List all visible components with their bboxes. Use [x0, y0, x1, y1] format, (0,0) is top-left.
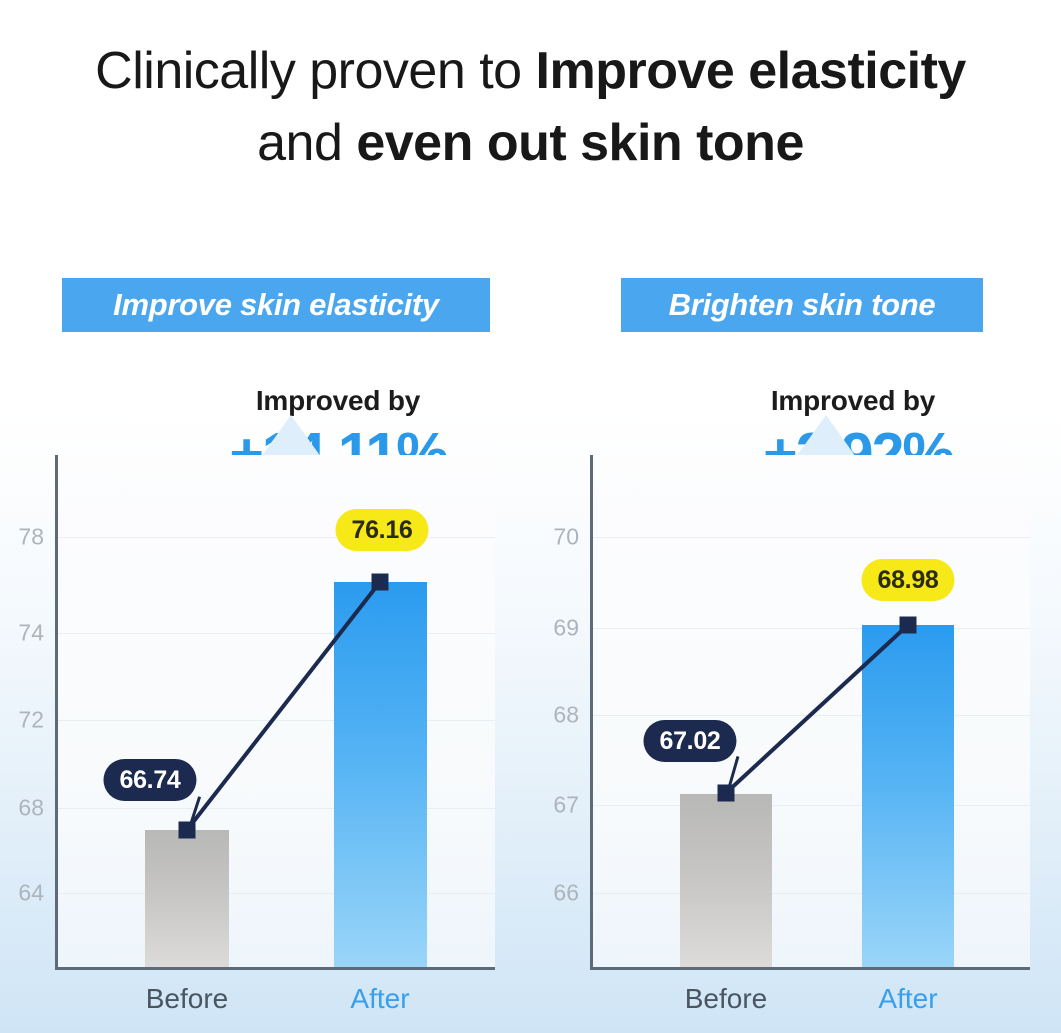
data-point-marker-before	[718, 785, 735, 802]
y-tick-label: 64	[18, 880, 44, 907]
headline-line-1-bold: Improve elasticity	[536, 42, 966, 100]
y-tick-label: 69	[553, 615, 579, 642]
panel-elasticity: Improve skin elasticity Improved by +14.…	[8, 270, 506, 1033]
y-tick-label: 72	[18, 707, 44, 734]
value-pill-before: 67.02	[643, 720, 736, 762]
y-tick-label: 68	[553, 702, 579, 729]
headline-line-2-normal: and	[257, 114, 356, 172]
x-label-after: After	[878, 983, 937, 1015]
headline-line-1-normal: Clinically proven to	[95, 42, 535, 100]
x-label-before: Before	[685, 983, 768, 1015]
improved-label-elasticity: Improved by	[188, 385, 488, 417]
value-pill-after: 76.16	[335, 509, 428, 551]
page-title: Clinically proven to Improve elasticity …	[0, 36, 1061, 180]
panel-skin-tone: Brighten skin tone Improved by +2.92% 70…	[543, 270, 1041, 1033]
headline-line-1: Clinically proven to Improve elasticity	[0, 36, 1061, 108]
plot-area-elasticity: 78 74 72 68 64	[55, 455, 495, 970]
chart-elasticity: 78 74 72 68 64	[8, 450, 506, 1033]
x-label-before: Before	[146, 983, 229, 1015]
improved-label-skin-tone: Improved by	[703, 385, 1003, 417]
chart-skin-tone: 70 69 68 67 66 67.02 68.98	[543, 450, 1041, 1033]
headline-line-2-bold: even out skin tone	[356, 114, 804, 172]
plot-area-skin-tone: 70 69 68 67 66 67.02 68.98	[590, 455, 1030, 970]
trend-connector-line	[55, 455, 495, 970]
headline-line-2: and even out skin tone	[0, 108, 1061, 180]
data-point-marker-after	[372, 574, 389, 591]
panel-badge-elasticity: Improve skin elasticity	[62, 278, 490, 332]
y-tick-label: 70	[553, 524, 579, 551]
value-pill-before: 66.74	[103, 759, 196, 801]
data-point-marker-after	[900, 617, 917, 634]
trend-connector-line	[590, 455, 1030, 970]
y-tick-label: 67	[553, 792, 579, 819]
panel-badge-skin-tone: Brighten skin tone	[621, 278, 983, 332]
y-tick-label: 74	[18, 620, 44, 647]
y-tick-label: 66	[553, 880, 579, 907]
x-label-after: After	[350, 983, 409, 1015]
y-tick-label: 78	[18, 524, 44, 551]
clinical-results-infographic: { "headline": { "line1_normal": "Clinica…	[0, 0, 1061, 1033]
y-tick-label: 68	[18, 795, 44, 822]
value-pill-after: 68.98	[861, 559, 954, 601]
